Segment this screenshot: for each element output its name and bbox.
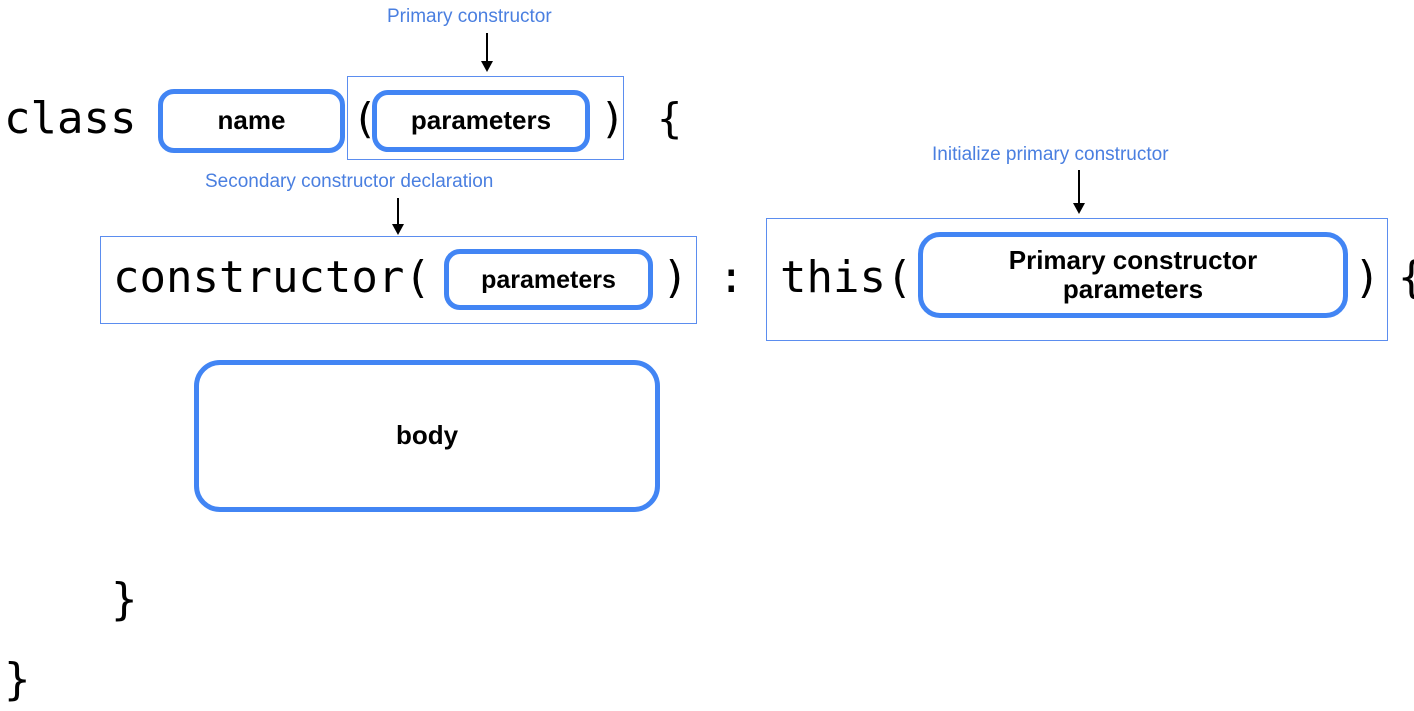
primary-close-paren: ) [600,98,625,140]
this-parameters-slot-label: Primary constructor parameters [1009,246,1258,304]
this-close-paren: ) [1354,256,1381,300]
class-name-slot[interactable]: name [158,89,345,153]
primary-parameters-slot[interactable]: parameters [372,90,590,152]
secondary-constructor-arrow [392,198,404,235]
primary-parameters-slot-label: parameters [411,106,551,135]
class-open-brace: { [657,98,682,140]
class-close-brace: } [4,658,31,702]
constructor-keyword: constructor( [113,256,431,300]
class-name-slot-label: name [218,106,286,135]
secondary-parameters-slot-label: parameters [481,266,616,294]
secondary-close-paren: ) [662,256,689,300]
secondary-parameters-slot[interactable]: parameters [444,249,653,310]
initialize-primary-constructor-arrow [1073,170,1085,214]
caption-initialize-primary-constructor: Initialize primary constructor [932,145,1169,164]
body-slot[interactable]: body [194,360,660,512]
caption-primary-constructor: Primary constructor [387,7,552,26]
delegation-colon: : [718,256,745,300]
caption-secondary-constructor-declaration: Secondary constructor declaration [205,172,493,191]
class-keyword: class [4,97,136,141]
this-parameters-slot[interactable]: Primary constructor parameters [918,232,1348,318]
body-slot-label: body [396,421,458,450]
this-keyword: this( [780,256,912,300]
primary-constructor-arrow [481,33,493,72]
secondary-close-brace: } [111,578,138,622]
diagram-canvas: Primary constructor class name ( paramet… [0,0,1414,711]
secondary-open-brace: { [1398,256,1414,300]
